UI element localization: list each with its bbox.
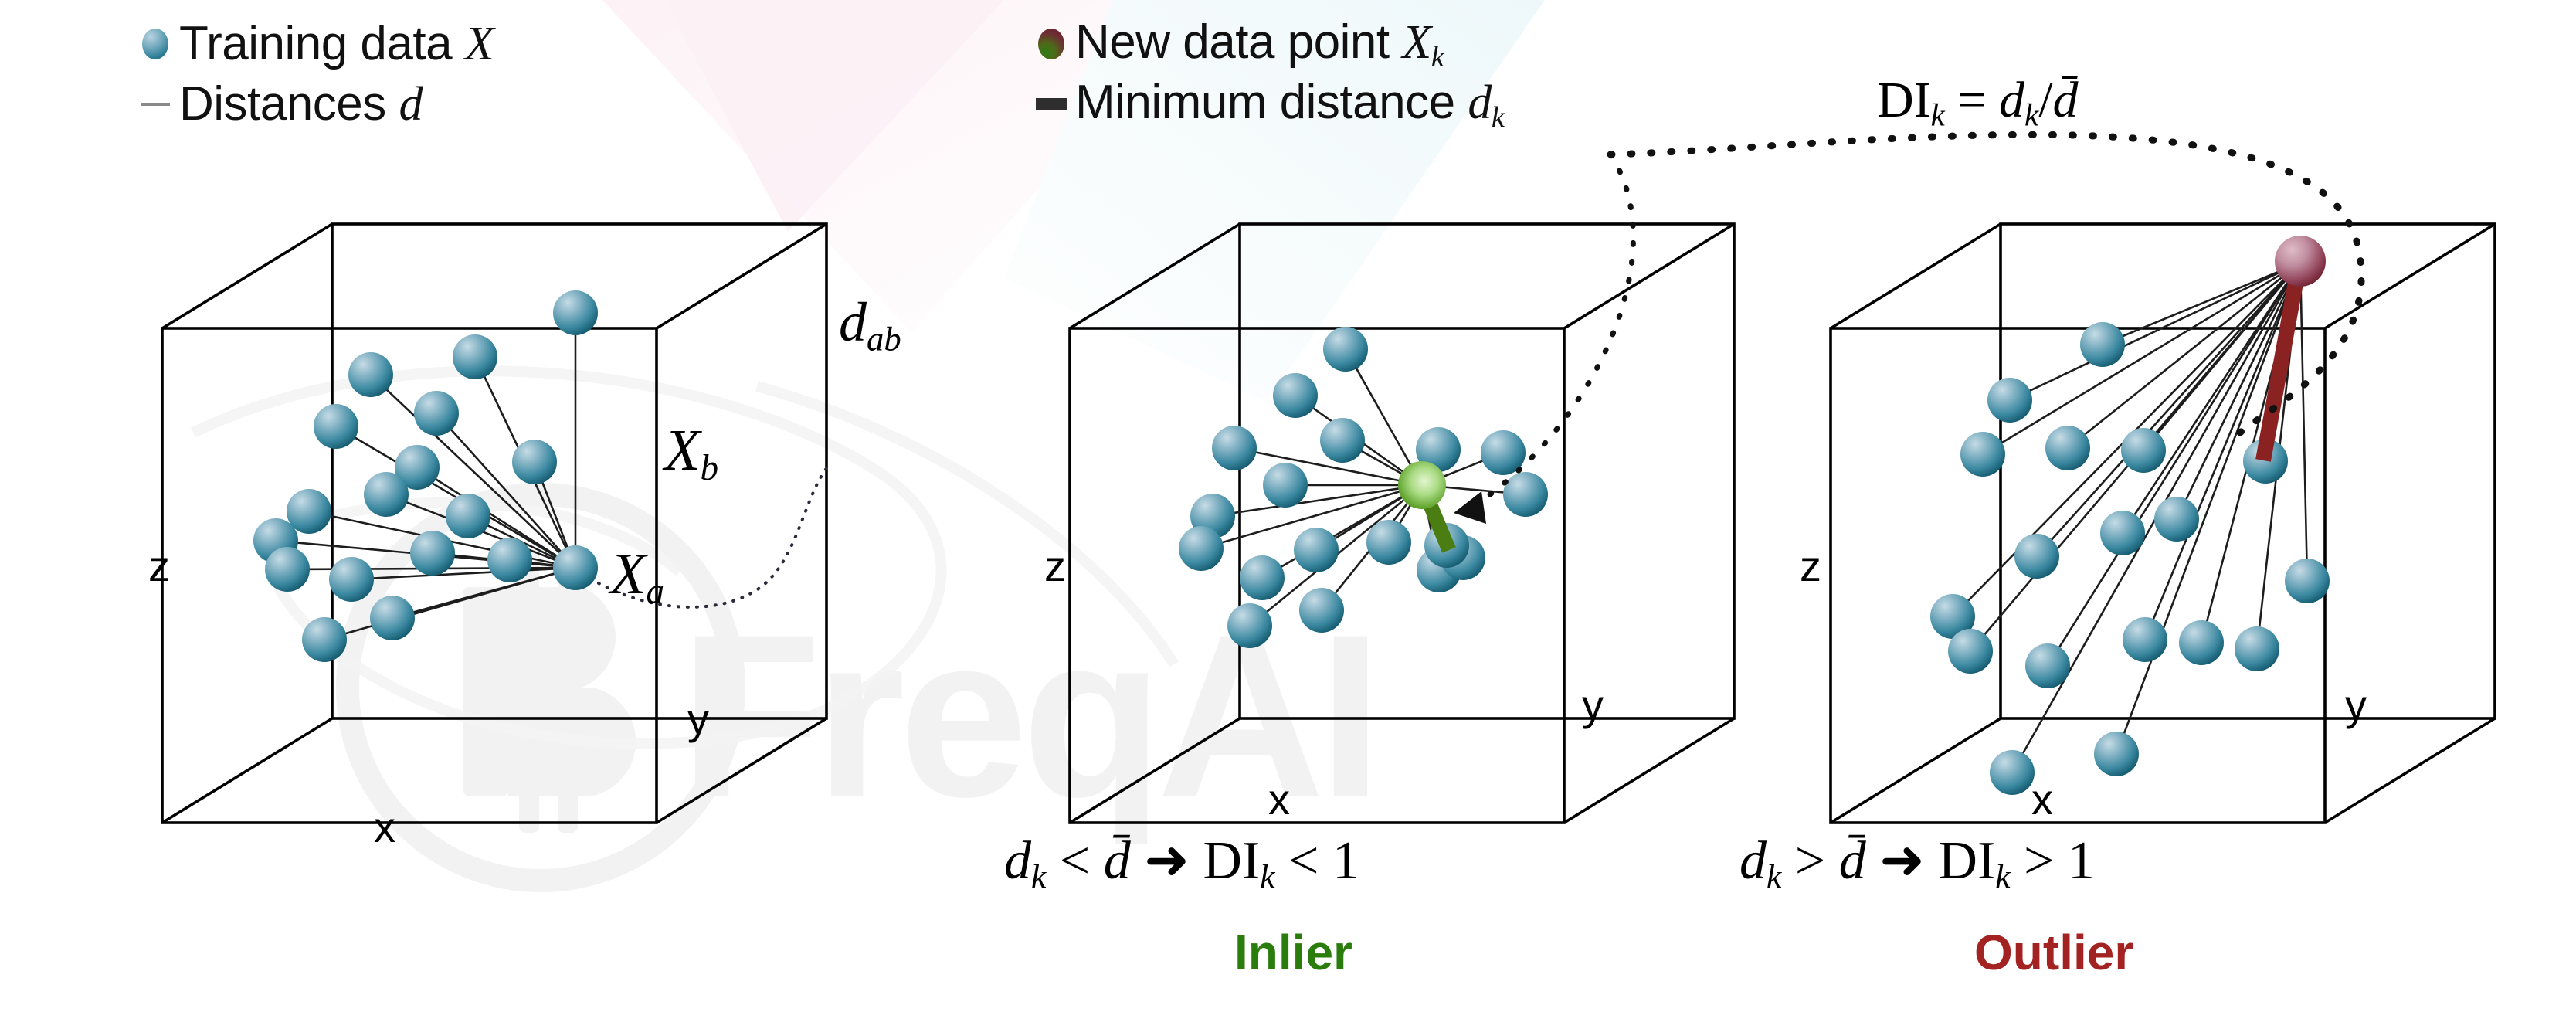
training-data-point xyxy=(1212,426,1257,470)
training-data-point xyxy=(265,547,310,592)
axis-label-x-outlier: x xyxy=(2031,774,2053,824)
training-data-point xyxy=(1320,418,1365,463)
verdict-outlier: Outlier xyxy=(1974,924,2133,981)
training-data-point xyxy=(2080,322,2125,367)
new-data-point-outlier xyxy=(2275,236,2326,287)
axis-label-x-training: x xyxy=(374,802,395,852)
inlier-training-points xyxy=(1179,327,1548,648)
point-label-xb: Xb xyxy=(664,417,718,489)
training-data-point xyxy=(1227,603,1272,648)
dk-arrowhead xyxy=(1454,491,1486,524)
point-label-xa: Xa xyxy=(610,541,664,613)
training-data-point xyxy=(1294,528,1339,572)
inlier-condition-equation: dk < d̄ ➜ DIk < 1 xyxy=(1004,828,1359,896)
training-data-point xyxy=(2025,643,2070,688)
training-data-point xyxy=(348,352,393,397)
outlier-cube xyxy=(1831,224,2495,823)
axis-label-z-inlier: z xyxy=(1044,541,1066,591)
training-data-point xyxy=(414,391,459,436)
training-data-point xyxy=(1273,373,1318,418)
axis-label-y-inlier: y xyxy=(1582,680,1604,730)
distance-line xyxy=(2300,263,2307,581)
axis-label-x-inlier: x xyxy=(1268,774,1290,824)
axis-label-y-training: y xyxy=(687,694,709,744)
axis-label-y-outlier: y xyxy=(2345,680,2367,730)
training-data-point xyxy=(314,404,358,449)
training-data-point xyxy=(2121,428,2166,473)
training-data-point xyxy=(2014,534,2059,579)
training-data-point xyxy=(1323,327,1368,372)
verdict-inlier: Inlier xyxy=(1234,924,1352,981)
training-data-point xyxy=(1987,378,2032,423)
training-data-point xyxy=(1263,463,1308,508)
training-data-point xyxy=(512,440,557,484)
training-data-point xyxy=(2045,426,2090,470)
training-data-point xyxy=(1240,555,1285,600)
training-data-point xyxy=(2154,497,2199,542)
training-data-point xyxy=(446,494,490,538)
training-data-point xyxy=(1299,588,1344,633)
training-data-point xyxy=(1990,750,2035,795)
distance-label-dab: dab xyxy=(839,290,901,358)
inlier-cube xyxy=(1070,224,1734,823)
training-data-point xyxy=(410,531,455,576)
training-data-point xyxy=(2285,559,2330,603)
outlier-condition-equation: dk > d̄ ➜ DIk > 1 xyxy=(1739,828,2095,896)
training-data-point xyxy=(302,617,347,662)
training-data-point xyxy=(2179,620,2224,665)
training-data-point xyxy=(2100,511,2145,555)
training-data-point xyxy=(370,596,415,640)
training-data-point xyxy=(329,557,374,602)
training-data-point xyxy=(1960,432,2005,477)
training-distances-cube xyxy=(162,224,830,823)
axis-label-z-training: z xyxy=(148,541,170,591)
training-data-point xyxy=(1948,629,1993,674)
training-points xyxy=(253,290,598,662)
training-data-point xyxy=(1179,526,1224,571)
training-data-point xyxy=(2123,617,2167,662)
training-data-point xyxy=(453,334,497,379)
axis-label-z-outlier: z xyxy=(1800,541,1821,591)
training-data-point xyxy=(553,545,598,590)
training-data-point xyxy=(1366,520,1411,565)
training-data-point xyxy=(1503,472,1548,517)
training-data-point xyxy=(2235,626,2279,671)
new-data-point-inlier xyxy=(1398,461,1446,509)
training-data-point xyxy=(487,538,532,582)
training-data-point xyxy=(2094,732,2139,776)
training-data-point xyxy=(553,290,598,335)
training-data-point xyxy=(364,472,409,517)
